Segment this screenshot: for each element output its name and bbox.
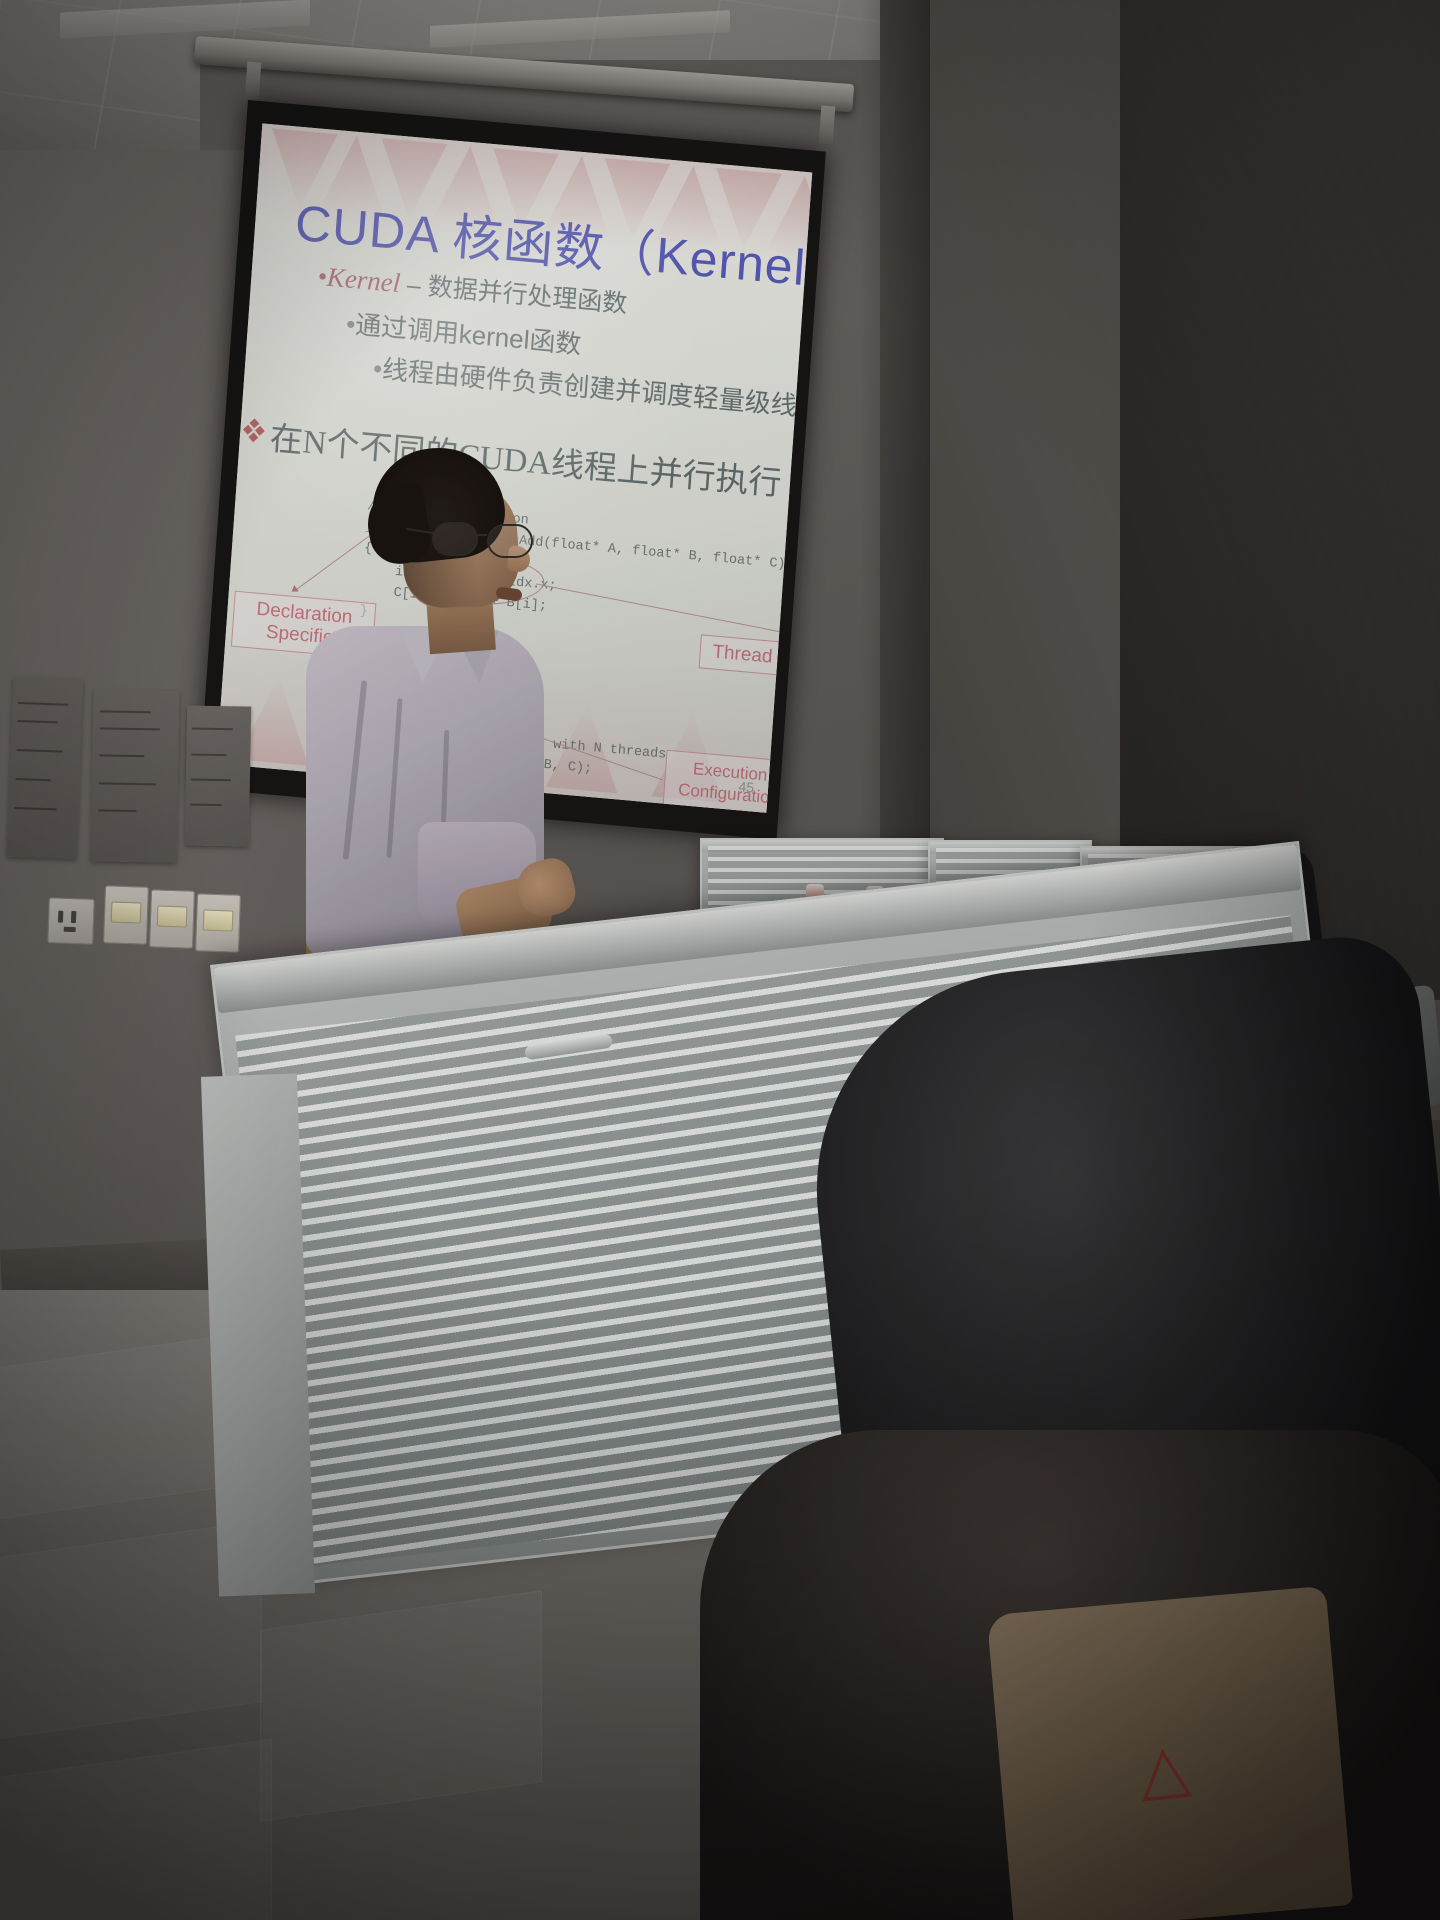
slide-page-number: 45 <box>738 778 755 795</box>
glasses-lens-left <box>432 522 478 556</box>
notice-sheet-3 <box>185 705 251 846</box>
floor-tile <box>0 1739 272 1920</box>
glasses-bridge <box>473 534 487 536</box>
notice-sheet-2 <box>91 689 180 862</box>
bullet-1-lead: Kernel <box>326 262 401 298</box>
switch-label-2 <box>150 943 192 944</box>
presenter-glasses <box>432 522 530 556</box>
switch-label-3 <box>196 947 238 948</box>
partition-corner-post <box>201 1073 315 1596</box>
presenter-mouth <box>495 586 522 602</box>
wall-power-socket[interactable] <box>47 897 95 945</box>
photo-scene: CUDA 核函数（Kernels） •Kernel – 数据并行处理函数 •通过… <box>0 0 1440 1920</box>
light-switch-2[interactable] <box>149 889 195 949</box>
floor-tile <box>260 1590 542 1822</box>
screen-bracket-right <box>819 106 836 145</box>
bag-logo-icon: △ <box>1116 1726 1215 1825</box>
switch-label-1 <box>104 939 146 940</box>
notice-sheet-1 <box>7 677 83 859</box>
bullet-3-text: 线程由硬件负责创建并调度轻量级线程 <box>381 354 812 423</box>
light-switch-3[interactable] <box>195 893 241 953</box>
bullet-1-dash: – <box>399 270 429 300</box>
slide-bullet-3: •线程由硬件负责创建并调度轻量级线程 <box>372 348 812 425</box>
glasses-lens-right <box>487 524 533 558</box>
diamond-bullet-icon <box>244 419 265 441</box>
screen-bracket-left <box>245 62 262 101</box>
light-switch-1[interactable] <box>103 885 149 945</box>
